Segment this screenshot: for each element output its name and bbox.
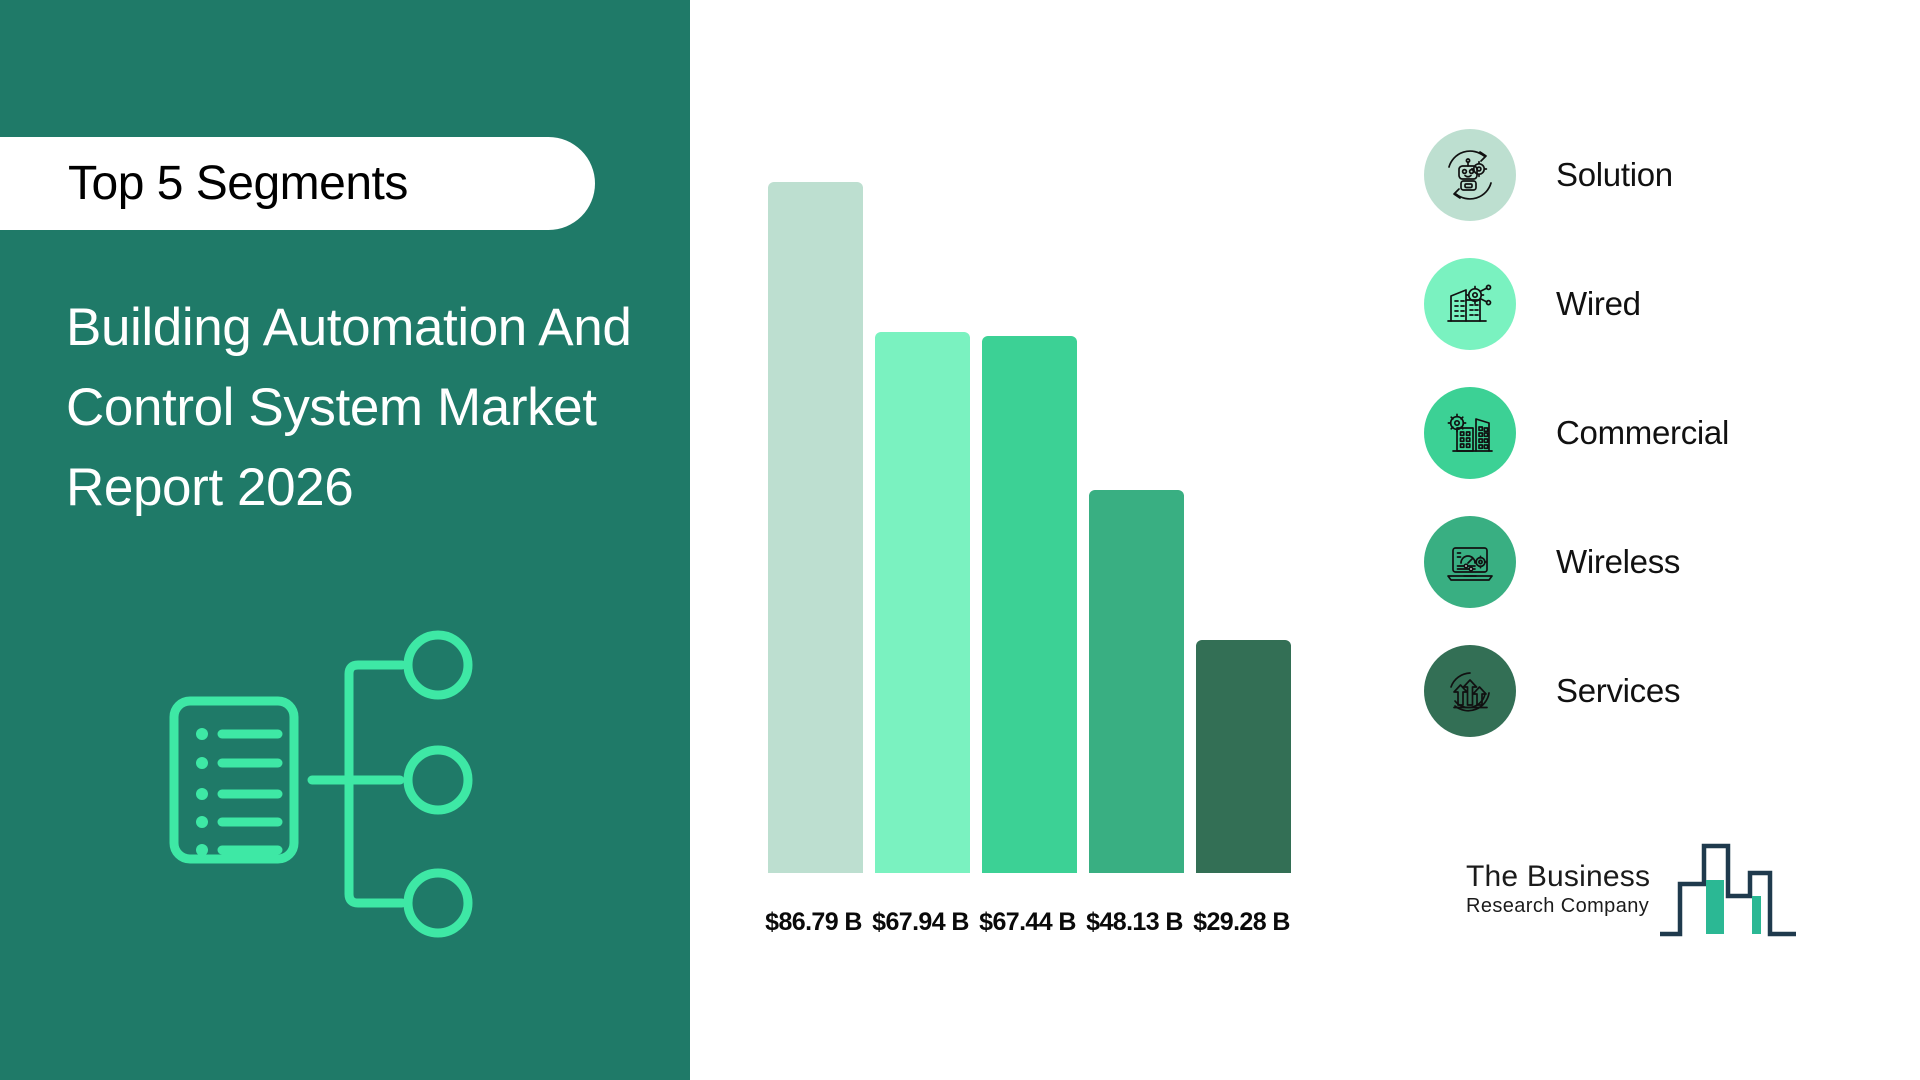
company-logo-line2: Research Company <box>1466 894 1671 918</box>
legend-item-services: Services <box>1424 639 1894 743</box>
growth-arrows-icon <box>1440 661 1500 721</box>
top-segments-badge-label: Top 5 Segments <box>68 156 408 211</box>
top-segments-badge: Top 5 Segments <box>0 137 595 230</box>
bar-value-label: $86.79 B <box>760 908 867 937</box>
legend-swatch-wired <box>1424 258 1516 350</box>
legend-item-commercial: Commercial <box>1424 381 1894 485</box>
legend-item-wireless: Wireless <box>1424 510 1894 614</box>
bar-services <box>1196 640 1291 873</box>
legend-item-wired: Wired <box>1424 252 1894 356</box>
legend-label-wired: Wired <box>1556 285 1641 323</box>
company-logo-line1: The Business <box>1466 860 1671 894</box>
legend-swatch-commercial <box>1424 387 1516 479</box>
segmentation-tree-icon <box>160 608 510 948</box>
bar-wireless <box>1089 490 1184 873</box>
legend-label-wireless: Wireless <box>1556 543 1680 581</box>
bar-chart: $86.79 B $67.94 B $67.44 B $48.13 B $29.… <box>760 0 1320 1080</box>
legend-swatch-services <box>1424 645 1516 737</box>
bar-value-label: $48.13 B <box>1081 908 1188 937</box>
laptop-dashboard-icon <box>1440 532 1500 592</box>
building-gear-network-icon <box>1440 274 1500 334</box>
legend-item-solution: Solution <box>1424 123 1894 227</box>
bar-value-label: $67.44 B <box>974 908 1081 937</box>
left-panel: Top 5 Segments Building Automation And C… <box>0 0 690 1080</box>
legend-swatch-wireless <box>1424 516 1516 608</box>
page-title: Building Automation And Control System M… <box>66 288 646 528</box>
bar-value-labels: $86.79 B $67.94 B $67.44 B $48.13 B $29.… <box>760 908 1320 937</box>
chart-legend: Solution <box>1424 123 1894 768</box>
bar-commercial <box>982 336 1077 873</box>
robot-gear-cycle-icon <box>1440 145 1500 205</box>
bar-group <box>768 173 1298 873</box>
bar-value-label: $67.94 B <box>867 908 974 937</box>
company-logo-text: The Business Research Company <box>1466 860 1671 918</box>
bar-chart-logo-mark <box>1658 838 1798 948</box>
bar-solution <box>768 182 863 873</box>
legend-label-commercial: Commercial <box>1556 414 1729 452</box>
bar-wired <box>875 332 970 873</box>
legend-label-solution: Solution <box>1556 156 1673 194</box>
infographic-canvas: Top 5 Segments Building Automation And C… <box>0 0 1920 1080</box>
company-logo: The Business Research Company <box>1466 838 1796 948</box>
legend-label-services: Services <box>1556 672 1680 710</box>
bar-value-label: $29.28 B <box>1188 908 1295 937</box>
legend-swatch-solution <box>1424 129 1516 221</box>
commercial-buildings-gear-icon <box>1440 403 1500 463</box>
